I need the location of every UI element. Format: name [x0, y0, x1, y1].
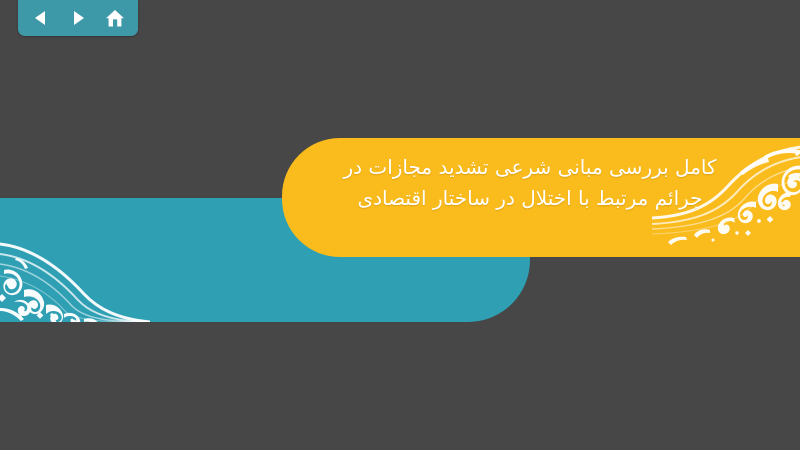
- slide-canvas: کامل بررسی مبانی شرعی تشدید مجازات در جر…: [0, 0, 800, 450]
- slide-title: کامل بررسی مبانی شرعی تشدید مجازات در جر…: [282, 152, 800, 214]
- title-line-1: کامل بررسی مبانی شرعی تشدید مجازات در: [282, 152, 778, 183]
- arabesque-corner-ornament: [0, 198, 150, 322]
- home-icon: [105, 9, 125, 28]
- forward-button[interactable]: [64, 5, 92, 31]
- home-button[interactable]: [101, 5, 129, 31]
- title-line-2: جرائم مرتبط با اختلال در ساختار اقتصادی: [282, 183, 778, 214]
- forward-arrow-icon: [69, 9, 87, 27]
- back-button[interactable]: [27, 5, 55, 31]
- navigation-bar: [18, 0, 138, 36]
- back-arrow-icon: [32, 9, 50, 27]
